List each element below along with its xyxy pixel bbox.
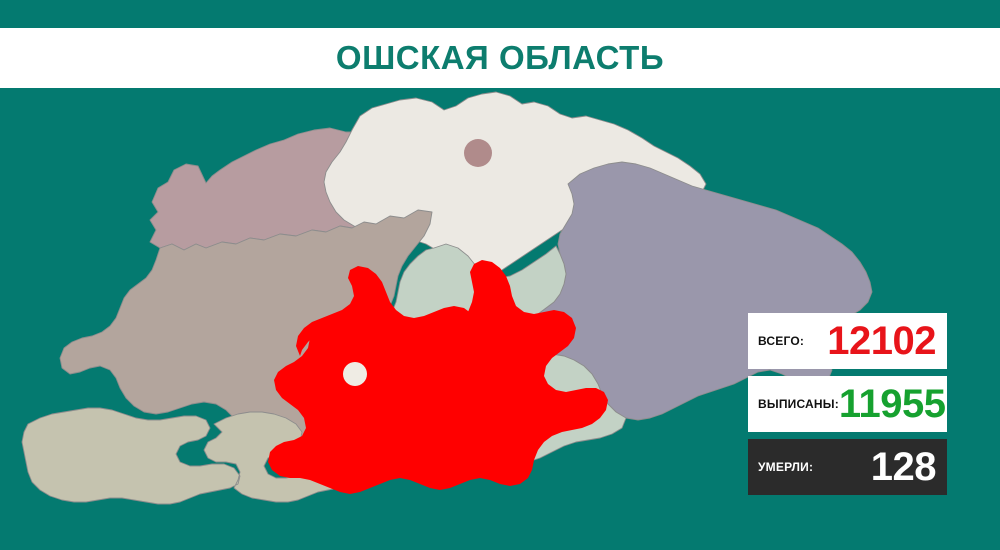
map-stage: ВСЕГО: 12102 ВЫПИСАНЫ: 11955 УМЕРЛИ: 128 [0,88,1000,550]
stat-value-total: 12102 [827,321,936,361]
stat-row-total: ВСЕГО: 12102 [748,313,947,369]
top-teal-bar [0,0,1000,28]
title-band: ОШСКАЯ ОБЛАСТЬ [0,28,1000,88]
stat-label-total: ВСЕГО: [758,334,804,348]
stat-value-deaths: 128 [871,447,936,487]
map-marker-bishkek[interactable] [464,139,492,167]
stat-label-deaths: УМЕРЛИ: [758,460,813,474]
map-marker-osh-city[interactable] [343,362,367,386]
page-title: ОШСКАЯ ОБЛАСТЬ [336,39,664,77]
stat-row-recovered: ВЫПИСАНЫ: 11955 [748,376,947,432]
stat-value-recovered: 11955 [839,384,946,424]
statistics-panel: ВСЕГО: 12102 ВЫПИСАНЫ: 11955 УМЕРЛИ: 128 [748,313,947,495]
stat-row-deaths: УМЕРЛИ: 128 [748,439,947,495]
infographic-root: ОШСКАЯ ОБЛАСТЬ [0,0,1000,550]
stat-label-recovered: ВЫПИСАНЫ: [758,397,839,411]
